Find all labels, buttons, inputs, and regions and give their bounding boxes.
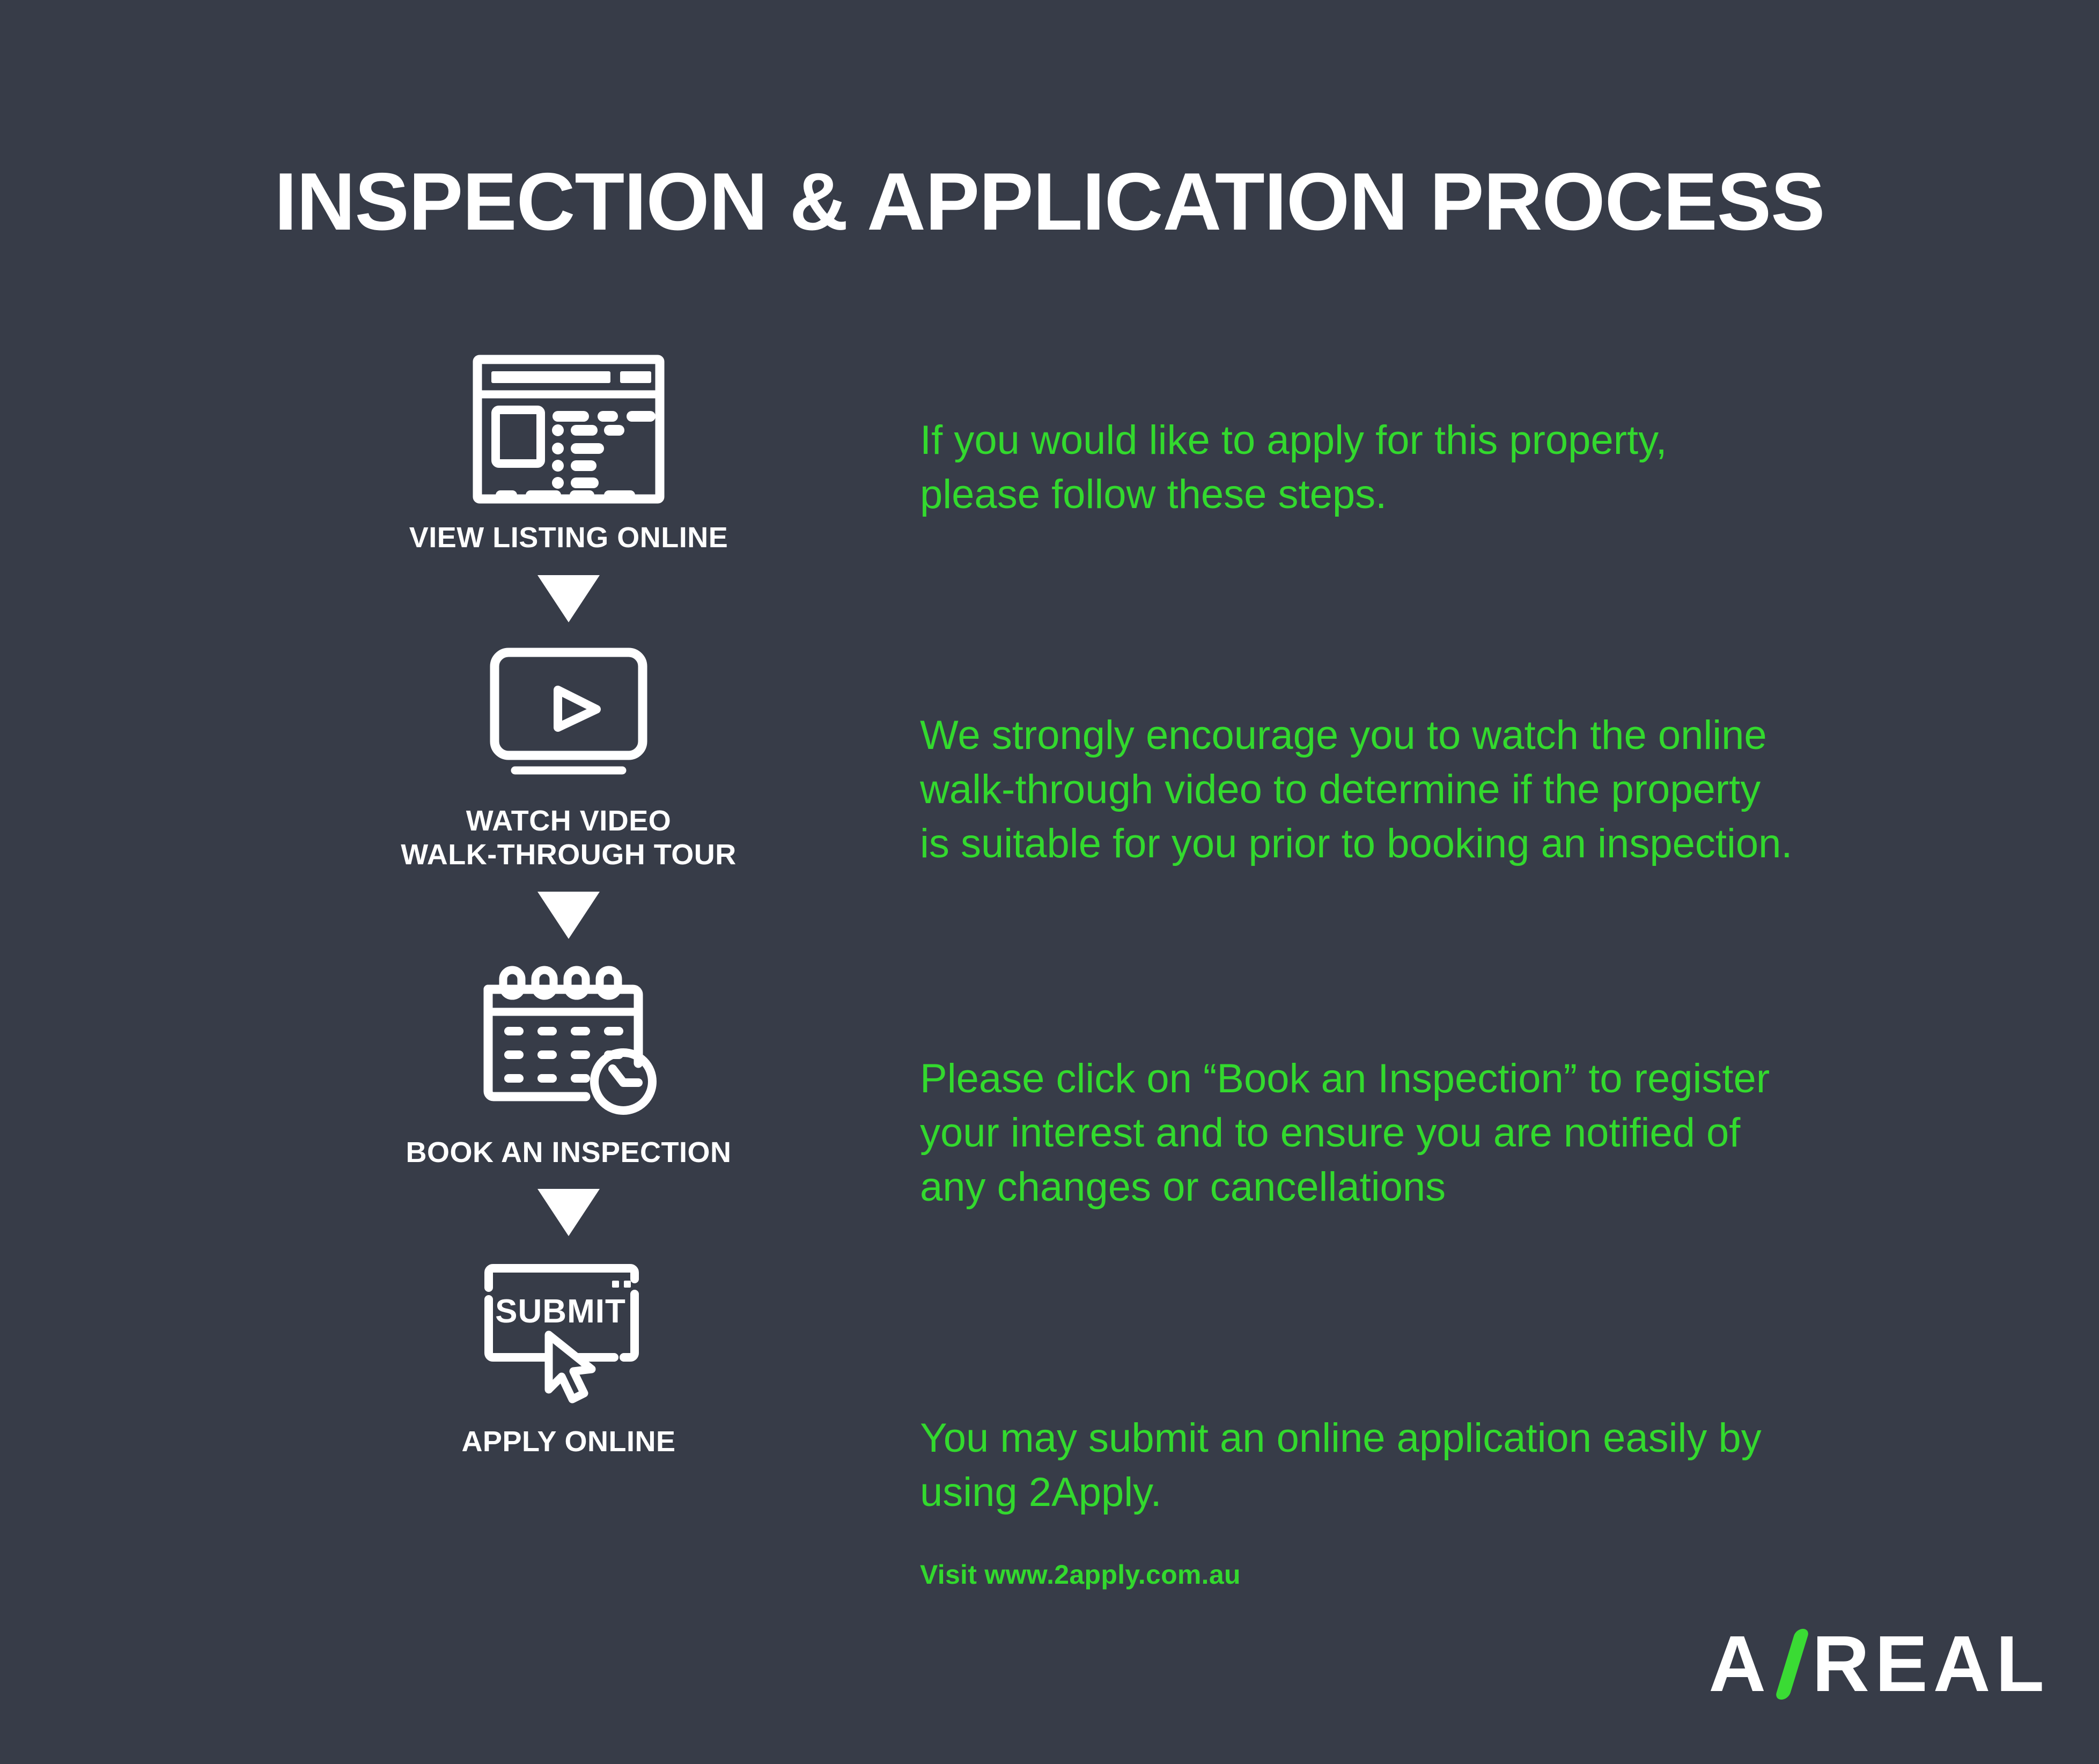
browser-listing-icon <box>472 354 665 507</box>
brand-logo: A REAL <box>1708 1625 2050 1704</box>
step-book-inspection[interactable]: BOOK AN INSPECTION <box>349 958 789 1170</box>
infographic-poster: INSPECTION & APPLICATION PROCESS <box>0 0 2099 1764</box>
arrow-separator-2 <box>349 892 789 939</box>
copy-intro: If you would like to apply for this prop… <box>920 413 1667 521</box>
step-view-listing-online[interactable]: VIEW LISTING ONLINE <box>349 354 789 555</box>
arrow-separator-1 <box>349 575 789 622</box>
video-play-screen-icon <box>472 643 665 790</box>
arrow-down-icon <box>537 575 600 622</box>
logo-letter-a: A <box>1708 1625 1768 1704</box>
logo-slash-icon <box>1776 1629 1809 1700</box>
copy-watch-video: We strongly encourage you to watch the o… <box>920 708 1793 871</box>
logo-word-real: REAL <box>1812 1625 2050 1704</box>
copy-book-inspection: Please click on “Book an Inspection” to … <box>920 1052 1770 1214</box>
copy-apply-online: You may submit an online application eas… <box>920 1411 1762 1519</box>
calendar-clock-icon <box>472 958 665 1122</box>
step-label-view-listing-online: VIEW LISTING ONLINE <box>409 521 728 555</box>
visit-url-text[interactable]: Visit www.2apply.com.au <box>920 1559 1241 1591</box>
step-label-apply-online: APPLY ONLINE <box>461 1425 675 1459</box>
arrow-down-icon <box>537 1189 600 1236</box>
page-title: INSPECTION & APPLICATION PROCESS <box>0 161 2099 242</box>
submit-icon-label: SUBMIT <box>495 1293 626 1330</box>
process-steps-column: VIEW LISTING ONLINE WATCH VIDEO WALK-THR… <box>349 354 789 1459</box>
step-label-book-inspection: BOOK AN INSPECTION <box>406 1136 731 1170</box>
step-apply-online[interactable]: SUBMIT APPLY ONLINE <box>349 1255 789 1459</box>
step-watch-video[interactable]: WATCH VIDEO WALK-THROUGH TOUR <box>349 643 789 872</box>
step-label-watch-video: WATCH VIDEO WALK-THROUGH TOUR <box>401 804 736 872</box>
submit-button-cursor-icon: SUBMIT <box>469 1255 668 1411</box>
arrow-separator-3 <box>349 1189 789 1236</box>
arrow-down-icon <box>537 892 600 939</box>
